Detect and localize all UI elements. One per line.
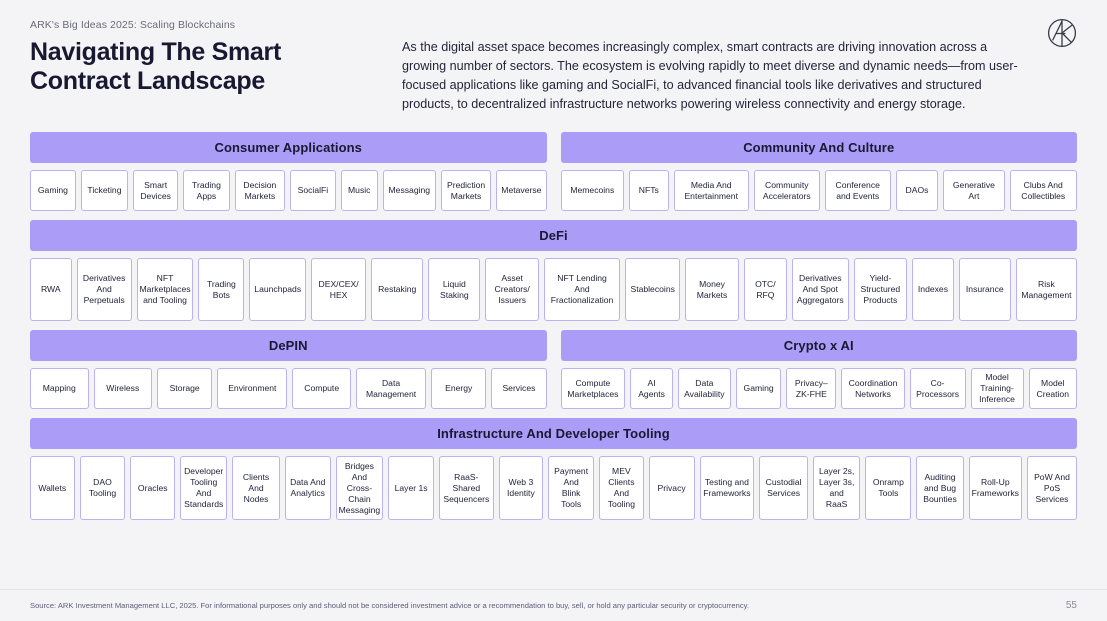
- category-item[interactable]: Compute Marketplaces: [561, 368, 626, 409]
- band-community-and-culture: Community And Culture MemecoinsNFTsMedia…: [561, 132, 1078, 211]
- band-items-crypto-x-ai: Compute MarketplacesAI AgentsData Availa…: [561, 368, 1078, 409]
- category-item[interactable]: NFT Marketplaces and Tooling: [137, 258, 194, 321]
- category-item[interactable]: Layer 1s: [388, 456, 434, 520]
- category-item[interactable]: Media And Entertainment: [674, 170, 749, 211]
- page-title: Navigating The Smart Contract Landscape: [30, 38, 402, 96]
- category-item[interactable]: Co- Processors: [910, 368, 966, 409]
- category-item[interactable]: Smart Devices: [133, 170, 178, 211]
- category-item[interactable]: Wireless: [94, 368, 153, 409]
- category-item[interactable]: NFTs: [629, 170, 669, 211]
- category-item[interactable]: Storage: [157, 368, 212, 409]
- band-header-community-and-culture[interactable]: Community And Culture: [561, 132, 1078, 163]
- category-item[interactable]: SocialFi: [290, 170, 336, 211]
- category-item[interactable]: Testing and Frameworks: [700, 456, 755, 520]
- category-item[interactable]: Payment And Blink Tools: [548, 456, 594, 520]
- band-header-depin[interactable]: DePIN: [30, 330, 547, 361]
- category-item[interactable]: Metaverse: [496, 170, 546, 211]
- category-item[interactable]: Ticketing: [81, 170, 128, 211]
- category-item[interactable]: Data And Analytics: [285, 456, 331, 520]
- category-item[interactable]: RaaS-Shared Sequencers: [439, 456, 494, 520]
- band-items-depin: MappingWirelessStorageEnvironmentCompute…: [30, 368, 547, 409]
- category-item[interactable]: Messaging: [383, 170, 436, 211]
- category-item[interactable]: Conference and Events: [825, 170, 891, 211]
- category-item[interactable]: Data Availability: [678, 368, 731, 409]
- category-item[interactable]: Coordination Networks: [841, 368, 904, 409]
- category-item[interactable]: PoW And PoS Services: [1027, 456, 1077, 520]
- category-item[interactable]: Gaming: [736, 368, 782, 409]
- category-item[interactable]: Music: [341, 170, 378, 211]
- page-number: 55: [1066, 600, 1077, 611]
- category-item[interactable]: Data Management: [356, 368, 426, 409]
- category-item[interactable]: Decision Markets: [235, 170, 285, 211]
- category-item[interactable]: Clients And Nodes: [232, 456, 279, 520]
- band-items-defi: RWADerivatives And PerpetualsNFT Marketp…: [30, 258, 1077, 321]
- category-item[interactable]: Environment: [217, 368, 287, 409]
- category-item[interactable]: Clubs And Collectibles: [1010, 170, 1077, 211]
- category-item[interactable]: Yield- Structured Products: [854, 258, 908, 321]
- category-item[interactable]: Wallets: [30, 456, 75, 520]
- category-item[interactable]: Restaking: [371, 258, 423, 321]
- category-item[interactable]: Roll-Up Frameworks: [969, 456, 1022, 520]
- category-item[interactable]: Asset Creators/ Issuers: [485, 258, 539, 321]
- landscape-grid: Consumer Applications GamingTicketingSma…: [0, 132, 1107, 520]
- category-item[interactable]: Services: [491, 368, 546, 409]
- category-item[interactable]: DAOs: [896, 170, 939, 211]
- category-item[interactable]: Derivatives And Spot Aggregators: [792, 258, 849, 321]
- page-title-line2: Contract Landscape: [30, 67, 402, 96]
- category-item[interactable]: Liquid Staking: [428, 258, 480, 321]
- intro-paragraph: As the digital asset space becomes incre…: [402, 38, 1031, 114]
- ark-invest-logo: [1045, 16, 1079, 50]
- band-depin: DePIN MappingWirelessStorageEnvironmentC…: [30, 330, 547, 409]
- band-crypto-x-ai: Crypto x AI Compute MarketplacesAI Agent…: [561, 330, 1078, 409]
- category-item[interactable]: NFT Lending And Fractionalization: [544, 258, 620, 321]
- category-item[interactable]: DAO Tooling: [80, 456, 126, 520]
- band-header-consumer-applications[interactable]: Consumer Applications: [30, 132, 547, 163]
- source-disclaimer: Source: ARK Investment Management LLC, 2…: [30, 601, 749, 611]
- category-item[interactable]: Memecoins: [561, 170, 625, 211]
- category-item[interactable]: Privacy: [649, 456, 695, 520]
- category-item[interactable]: Onramp Tools: [865, 456, 911, 520]
- band-header-crypto-x-ai[interactable]: Crypto x AI: [561, 330, 1078, 361]
- band-defi: DeFi RWADerivatives And PerpetualsNFT Ma…: [30, 220, 1077, 321]
- category-item[interactable]: DEX/CEX/ HEX: [311, 258, 366, 321]
- band-header-infrastructure-and-developer-tooling[interactable]: Infrastructure And Developer Tooling: [30, 418, 1077, 449]
- header-title-block: ARK's Big Ideas 2025: Scaling Blockchain…: [30, 18, 402, 96]
- category-item[interactable]: Insurance: [959, 258, 1011, 321]
- category-item[interactable]: Mapping: [30, 368, 89, 409]
- category-item[interactable]: Gaming: [30, 170, 76, 211]
- header-intro-block: As the digital asset space becomes incre…: [402, 18, 1077, 114]
- category-item[interactable]: Money Markets: [685, 258, 739, 321]
- category-item[interactable]: Model Training- Inference: [971, 368, 1024, 409]
- category-item[interactable]: Layer 2s, Layer 3s, and RaaS: [813, 456, 860, 520]
- category-item[interactable]: Bridges And Cross- Chain Messaging: [336, 456, 383, 520]
- category-item[interactable]: Compute: [292, 368, 351, 409]
- band-items-community-and-culture: MemecoinsNFTsMedia And EntertainmentComm…: [561, 170, 1078, 211]
- eyebrow-label: ARK's Big Ideas 2025: Scaling Blockchain…: [30, 18, 402, 32]
- band-items-consumer-applications: GamingTicketingSmart DevicesTrading Apps…: [30, 170, 547, 211]
- category-item[interactable]: Energy: [431, 368, 486, 409]
- category-item[interactable]: Generative Art: [943, 170, 1004, 211]
- category-item[interactable]: Oracles: [130, 456, 175, 520]
- category-item[interactable]: Indexes: [912, 258, 954, 321]
- slide-footer: Source: ARK Investment Management LLC, 2…: [0, 589, 1107, 621]
- category-item[interactable]: Model Creation: [1029, 368, 1078, 409]
- slide: ARK's Big Ideas 2025: Scaling Blockchain…: [0, 0, 1107, 621]
- category-item[interactable]: OTC/ RFQ: [744, 258, 787, 321]
- category-item[interactable]: RWA: [30, 258, 72, 321]
- band-row-1: Consumer Applications GamingTicketingSma…: [30, 132, 1077, 220]
- category-item[interactable]: Launchpads: [249, 258, 306, 321]
- slide-header: ARK's Big Ideas 2025: Scaling Blockchain…: [0, 0, 1107, 114]
- category-item[interactable]: Auditing and Bug Bounties: [916, 456, 963, 520]
- category-item[interactable]: Derivatives And Perpetuals: [77, 258, 132, 321]
- band-header-defi[interactable]: DeFi: [30, 220, 1077, 251]
- page-title-line1: Navigating The Smart: [30, 38, 402, 67]
- category-item[interactable]: Prediction Markets: [441, 170, 491, 211]
- band-row-3: DePIN MappingWirelessStorageEnvironmentC…: [30, 330, 1077, 418]
- category-item[interactable]: Privacy– ZK-FHE: [786, 368, 836, 409]
- band-items-infrastructure-and-developer-tooling: WalletsDAO ToolingOraclesDeveloper Tooli…: [30, 456, 1077, 520]
- band-consumer-applications: Consumer Applications GamingTicketingSma…: [30, 132, 547, 211]
- category-item[interactable]: Community Accelerators: [754, 170, 820, 211]
- category-item[interactable]: Developer Tooling And Standards: [180, 456, 227, 520]
- band-infrastructure-and-developer-tooling: Infrastructure And Developer Tooling Wal…: [30, 418, 1077, 520]
- category-item[interactable]: Web 3 Identity: [499, 456, 544, 520]
- category-item[interactable]: MEV Clients And Tooling: [599, 456, 644, 520]
- category-item[interactable]: Custodial Services: [759, 456, 808, 520]
- category-item[interactable]: Trading Bots: [198, 258, 244, 321]
- category-item[interactable]: Risk Management: [1016, 258, 1077, 321]
- category-item[interactable]: Stablecoins: [625, 258, 680, 321]
- category-item[interactable]: AI Agents: [630, 368, 673, 409]
- category-item[interactable]: Trading Apps: [183, 170, 230, 211]
